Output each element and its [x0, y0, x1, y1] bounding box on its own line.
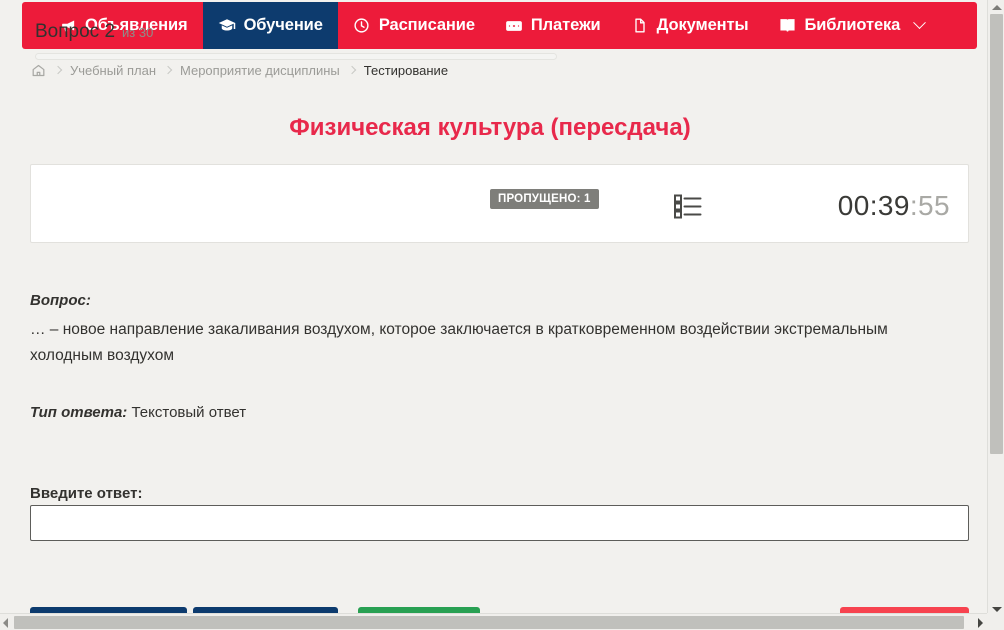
- nav-item-documents[interactable]: Документы: [616, 2, 764, 49]
- home-icon[interactable]: [30, 62, 46, 78]
- horizontal-scrollbar-thumb[interactable]: [14, 616, 964, 629]
- document-icon: [631, 17, 649, 35]
- scroll-right-arrow-icon[interactable]: [978, 618, 983, 628]
- breadcrumb-separator: [348, 66, 356, 74]
- answer-type-value: Текстовый ответ: [131, 404, 246, 421]
- breadcrumb-separator: [164, 66, 172, 74]
- answer-type-label: Тип ответа:: [30, 404, 127, 421]
- answer-input[interactable]: [30, 505, 969, 541]
- scrollbar-corner: [987, 613, 1004, 630]
- enter-answer-label: Введите ответ:: [30, 485, 142, 502]
- vertical-scrollbar-thumb[interactable]: [990, 14, 1003, 454]
- countdown-timer: 00:39:55: [838, 190, 950, 222]
- breadcrumb-item-discipline-event[interactable]: Мероприятие дисциплины: [180, 63, 340, 78]
- question-label: Вопрос:: [30, 292, 91, 309]
- horizontal-scrollbar[interactable]: [0, 613, 1004, 630]
- timer-seconds: :55: [910, 190, 950, 221]
- breadcrumb-separator: [54, 66, 62, 74]
- question-number: Вопрос 2: [35, 21, 115, 43]
- nav-item-label: Документы: [657, 16, 749, 35]
- question-text: … – новое направление закаливания воздух…: [30, 317, 890, 369]
- answer-type-row: Тип ответа: Текстовый ответ: [30, 404, 246, 421]
- book-icon: [778, 17, 796, 35]
- page-title: Физическая культура (пересдача): [0, 114, 980, 142]
- nav-item-label: Библиотека: [804, 16, 900, 35]
- question-list-icon[interactable]: [671, 189, 705, 223]
- test-page: Объявления Обучение Расписание: [0, 0, 1004, 630]
- nav-item-library[interactable]: Библиотека: [763, 2, 939, 49]
- question-total: из 30: [122, 25, 153, 40]
- breadcrumb-item-curriculum[interactable]: Учебный план: [70, 63, 156, 78]
- question-counter: Вопрос 2 из 30: [35, 21, 557, 43]
- scroll-up-arrow-icon[interactable]: [992, 5, 1002, 10]
- progress-bar: [35, 53, 557, 60]
- vertical-scrollbar[interactable]: [987, 0, 1004, 630]
- scroll-left-arrow-icon[interactable]: [3, 618, 8, 628]
- breadcrumb: Учебный план Мероприятие дисциплины Тест…: [30, 62, 448, 78]
- status-badge-skipped: ПРОПУЩЕНО: 1: [490, 189, 599, 209]
- scroll-down-arrow-icon[interactable]: [992, 607, 1002, 612]
- breadcrumb-item-testing: Тестирование: [364, 63, 448, 78]
- question-progress-block: Вопрос 2 из 30: [35, 21, 557, 60]
- chevron-down-icon[interactable]: [913, 16, 926, 29]
- timer-hours-minutes: 00:39: [838, 190, 910, 221]
